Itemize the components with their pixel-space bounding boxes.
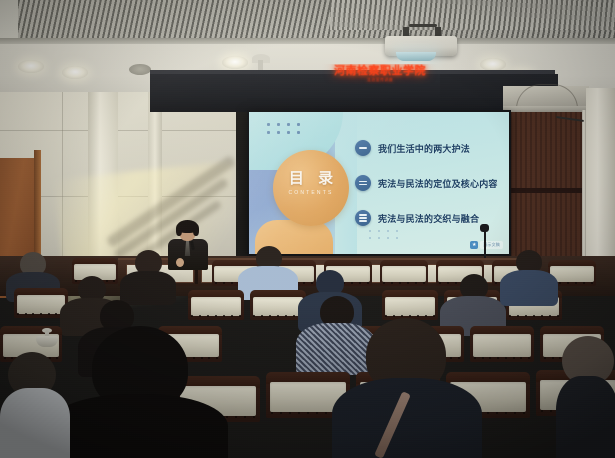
attendee-foreground (556, 336, 615, 458)
seat-back-pad (17, 295, 66, 314)
auditorium-seat[interactable] (188, 290, 244, 320)
seat-back-pad (385, 297, 435, 316)
lecture-hall-photo: 河南检察职业学院 法治宣传讲座 目 录 CONTENTS (0, 0, 615, 458)
slide-dot-grid-lower (369, 230, 405, 244)
projector-mount-arm (409, 24, 437, 27)
attendee (500, 250, 558, 302)
wall-pipe (582, 110, 586, 280)
seat-back-pad (382, 266, 425, 283)
downlight-icon (222, 56, 248, 69)
slide-dot-grid (267, 123, 307, 139)
slide-title-cn: 目 录 (273, 170, 349, 187)
slide-agenda-item: 我们生活中的两大护法 (355, 140, 507, 156)
attendee-body (332, 378, 482, 458)
projection-screen: 目 录 CONTENTS 我们生活中的两大护法 宪法与民法的定位及核心内容 (249, 112, 509, 254)
agenda-number-badge-one (355, 140, 371, 156)
slide-agenda-list: 我们生活中的两大护法 宪法与民法的定位及核心内容 宪法与民法的交织与融合 (355, 140, 507, 226)
slide-agenda-item: 宪法与民法的定位及核心内容 (355, 175, 507, 191)
projector-lens-icon (396, 52, 436, 61)
attendee-body (556, 376, 615, 458)
presenter-hair-side (176, 224, 182, 236)
attendee (238, 246, 298, 296)
agenda-item-text: 我们生活中的两大护法 (378, 142, 470, 155)
seat-studs (474, 356, 530, 359)
seat-studs (509, 315, 558, 318)
led-marquee-sign: 河南检察职业学院 法治宣传讲座 (322, 64, 438, 84)
agenda-number-badge-two (355, 175, 371, 191)
led-marquee-secondary-text: 法治宣传讲座 (367, 77, 393, 83)
presenter-hair-side (193, 224, 199, 236)
agenda-item-text: 宪法与民法的定位及核心内容 (378, 177, 498, 190)
auditorium-seat[interactable] (380, 260, 428, 286)
slide-title-block: 目 录 CONTENTS (273, 170, 349, 196)
slide-watermark: ★ 演示文稿 (470, 241, 503, 249)
desk-microphone-stand (484, 228, 486, 258)
seat-back-pad (191, 297, 241, 316)
slide-title-en: CONTENTS (273, 190, 349, 196)
presenter-hand (176, 258, 184, 267)
ceiling-grille-panel-right (330, 0, 615, 30)
attendee-foreground (332, 318, 482, 458)
attendee (120, 250, 176, 302)
downlight-icon (18, 60, 44, 73)
wood-panel-divider (505, 188, 587, 193)
attendee-body (48, 394, 228, 458)
led-marquee-primary-text: 河南检察职业学院 (334, 66, 426, 77)
seat-studs (191, 315, 240, 318)
attendee-body (0, 388, 70, 458)
seat-studs (383, 281, 425, 284)
seat-studs (17, 313, 65, 316)
wall-seam (0, 130, 236, 131)
agenda-number-badge-three (355, 210, 371, 226)
agenda-item-text: 宪法与民法的交织与融合 (378, 212, 479, 225)
projection-screen-frame: 目 录 CONTENTS 我们生活中的两大护法 宪法与民法的定位及核心内容 (247, 110, 511, 256)
attendee-body (500, 270, 558, 306)
attendee-foreground (48, 326, 228, 458)
attendee-foreground (0, 352, 70, 458)
watermark-badge-icon: ★ (470, 241, 478, 249)
auditorium-seat[interactable] (382, 290, 438, 320)
ceiling-vent-icon (129, 64, 151, 75)
downlight-icon (62, 66, 88, 79)
